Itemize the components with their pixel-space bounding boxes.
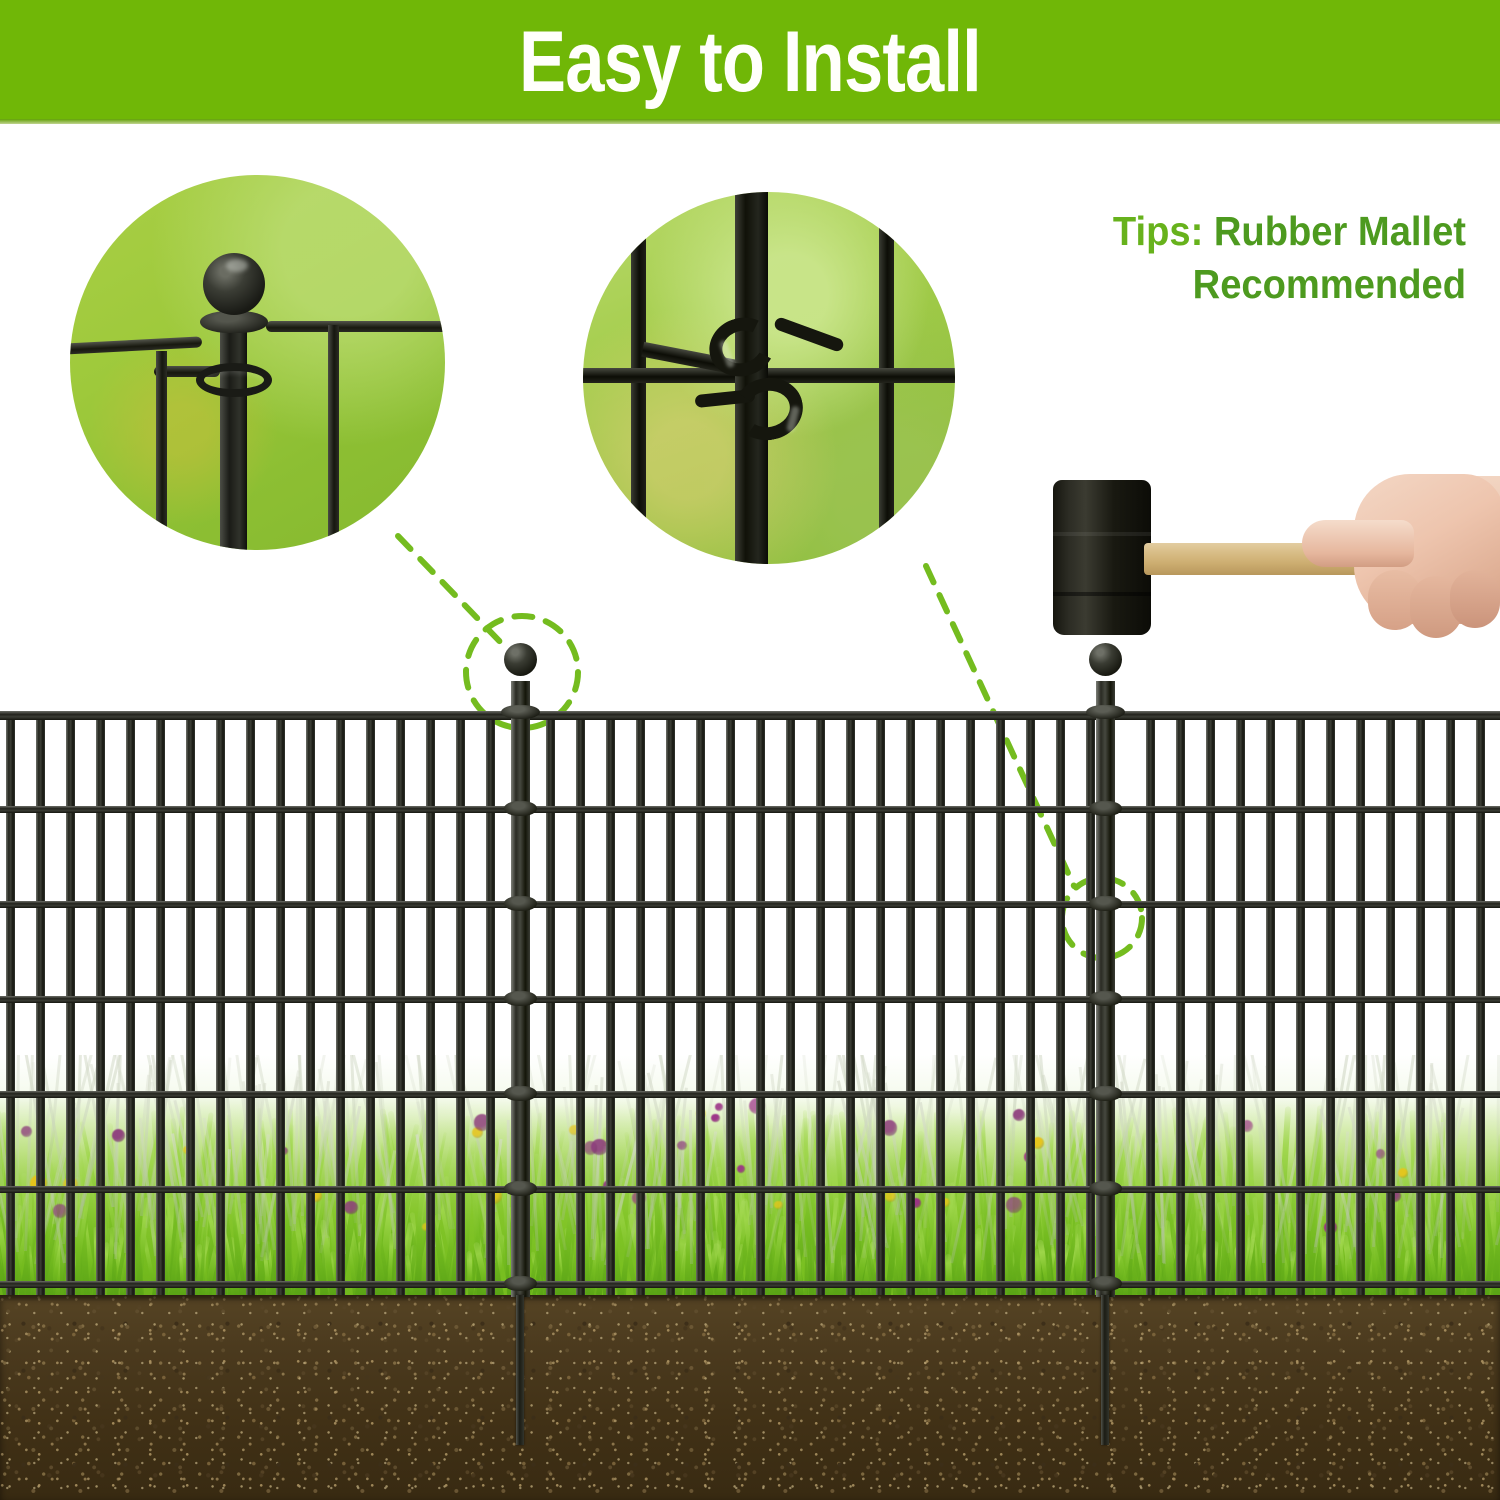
fence-vertical-bar bbox=[966, 715, 975, 1295]
fence-vertical-bar bbox=[546, 715, 555, 1295]
post-rail-joint bbox=[504, 1276, 537, 1291]
fence-post bbox=[511, 681, 530, 1297]
fence-vertical-bar bbox=[1176, 715, 1185, 1295]
fence-horizontal-rail bbox=[0, 996, 1500, 1003]
finger-ring bbox=[1450, 570, 1500, 628]
fence-vertical-bar bbox=[426, 715, 435, 1295]
fence-vertical-bar bbox=[126, 715, 135, 1295]
thumb bbox=[1302, 520, 1414, 567]
post-rail-joint bbox=[1089, 896, 1122, 911]
fence-vertical-bar bbox=[996, 715, 1005, 1295]
post-rail-joint bbox=[1089, 801, 1122, 816]
fence-vertical-bar bbox=[816, 715, 825, 1295]
fence-vertical-bar bbox=[1146, 715, 1155, 1295]
tips-body: Rubber Mallet Recommended bbox=[1193, 208, 1466, 307]
post-rail-joint bbox=[1089, 1276, 1122, 1291]
post-rail-joint bbox=[504, 991, 537, 1006]
post-rail-joint bbox=[504, 1086, 537, 1101]
fence-vertical-bar bbox=[306, 715, 315, 1295]
fence-vertical-bar bbox=[1416, 715, 1425, 1295]
hand-holding-mallet bbox=[1314, 470, 1500, 652]
detail-post-ring bbox=[196, 363, 272, 397]
fence-vertical-bar bbox=[1296, 715, 1305, 1295]
fence-vertical-bar bbox=[366, 715, 375, 1295]
fence-vertical-bar bbox=[576, 715, 585, 1295]
page-title: Easy to Install bbox=[135, 6, 1365, 118]
fence-vertical-bar bbox=[1326, 715, 1335, 1295]
fence-vertical-bar bbox=[1236, 715, 1245, 1295]
fence-vertical-bar bbox=[456, 715, 465, 1295]
fence-vertical-bar bbox=[636, 715, 645, 1295]
fence-vertical-bar bbox=[6, 715, 15, 1295]
ground-stake bbox=[516, 1295, 524, 1445]
fence-vertical-bar bbox=[96, 715, 105, 1295]
fence-vertical-bar bbox=[66, 715, 75, 1295]
fence-vertical-bar bbox=[336, 715, 345, 1295]
detail-vertical-bar-right bbox=[328, 325, 339, 550]
fence-vertical-bar bbox=[696, 715, 705, 1295]
post-rail-joint bbox=[504, 801, 537, 816]
fence-vertical-bar bbox=[1266, 715, 1275, 1295]
fence-vertical-bar bbox=[876, 715, 885, 1295]
ground-stake bbox=[1101, 1295, 1109, 1445]
fence-horizontal-rail bbox=[0, 806, 1500, 813]
hook-detail-bar-left bbox=[631, 232, 646, 552]
post-collar bbox=[1086, 705, 1125, 719]
post-collar bbox=[501, 705, 540, 719]
post-rail-joint bbox=[504, 1181, 537, 1196]
fence-vertical-bar bbox=[396, 715, 405, 1295]
detail-vertical-bar-left bbox=[156, 351, 167, 550]
fence-vertical-bar bbox=[486, 715, 495, 1295]
fence-post bbox=[1096, 681, 1115, 1297]
fence-vertical-bar bbox=[1386, 715, 1395, 1295]
tips-note: Tips: Rubber Mallet Recommended bbox=[1029, 205, 1466, 311]
fence-vertical-bar bbox=[846, 715, 855, 1295]
detail-circle-post-finial bbox=[70, 175, 445, 550]
fence-vertical-bar bbox=[216, 715, 225, 1295]
fence-vertical-bar bbox=[186, 715, 195, 1295]
tips-label: Tips: bbox=[1113, 208, 1203, 254]
header-banner: Easy to Install bbox=[0, 0, 1500, 124]
fence-vertical-bar bbox=[1446, 715, 1455, 1295]
fence-horizontal-rail bbox=[0, 901, 1500, 908]
finial-highlight bbox=[226, 259, 248, 272]
fence-vertical-bar bbox=[756, 715, 765, 1295]
post-rail-joint bbox=[1089, 991, 1122, 1006]
fence-vertical-bar bbox=[1476, 715, 1485, 1295]
s-hook-tail-upper bbox=[773, 316, 845, 353]
fence-vertical-bar bbox=[1026, 715, 1035, 1295]
callout-line-post bbox=[398, 536, 508, 650]
fence-horizontal-rail bbox=[0, 711, 1500, 720]
fence-structure bbox=[0, 640, 1500, 1500]
post-ball-finial-icon bbox=[1089, 643, 1122, 676]
fence-vertical-bar bbox=[726, 715, 735, 1295]
fence-scene bbox=[0, 640, 1500, 1500]
detail-circle-s-hook bbox=[583, 192, 955, 564]
fence-vertical-bar bbox=[1206, 715, 1215, 1295]
fence-vertical-bar bbox=[156, 715, 165, 1295]
detail-rail-right bbox=[266, 321, 445, 332]
fence-vertical-bar bbox=[786, 715, 795, 1295]
post-ball-finial-icon bbox=[504, 643, 537, 676]
fence-horizontal-rail bbox=[0, 1186, 1500, 1193]
post-rail-joint bbox=[1089, 1086, 1122, 1101]
detail-rail-left bbox=[70, 336, 202, 354]
fence-horizontal-rail bbox=[0, 1281, 1500, 1288]
post-rail-joint bbox=[1089, 1181, 1122, 1196]
fence-vertical-bar bbox=[906, 715, 915, 1295]
post-rail-joint bbox=[504, 896, 537, 911]
fence-vertical-bar bbox=[606, 715, 615, 1295]
fence-vertical-bar bbox=[36, 715, 45, 1295]
fence-vertical-bar bbox=[936, 715, 945, 1295]
fence-vertical-bar bbox=[666, 715, 675, 1295]
fence-vertical-bar bbox=[246, 715, 255, 1295]
fence-vertical-bar bbox=[1056, 715, 1065, 1295]
fence-horizontal-rail bbox=[0, 1091, 1500, 1098]
fence-vertical-bar bbox=[276, 715, 285, 1295]
fence-vertical-bar bbox=[1356, 715, 1365, 1295]
mallet-head bbox=[1053, 480, 1151, 635]
